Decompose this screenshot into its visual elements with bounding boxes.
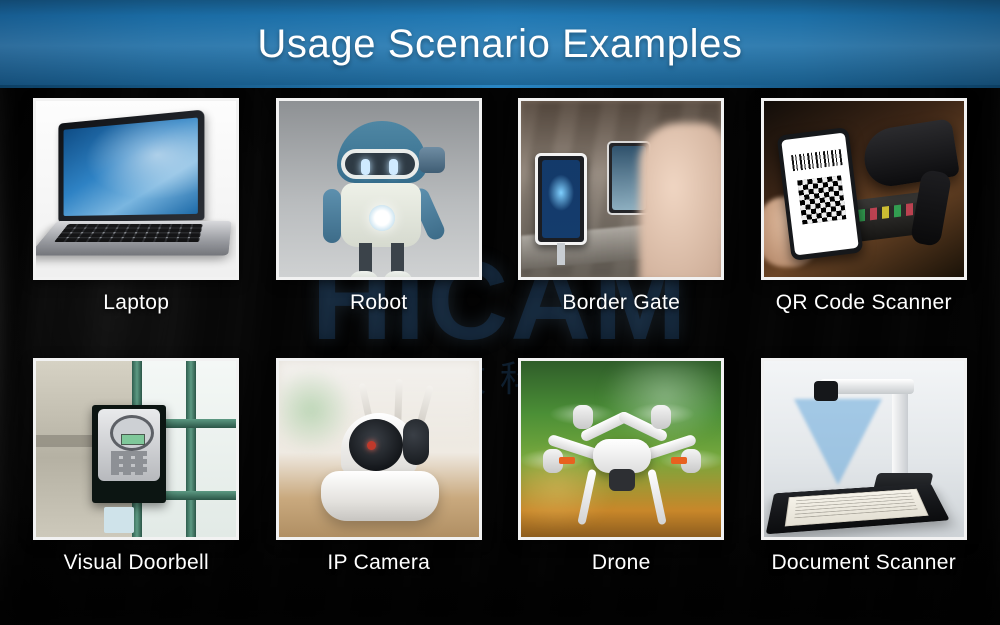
robot-illustration xyxy=(279,101,479,277)
thumbnail-ip-camera[interactable] xyxy=(276,358,482,540)
caption-robot: Robot xyxy=(350,291,408,315)
scenario-cell-visual-doorbell: Visual Doorbell xyxy=(18,358,255,618)
drone-illustration xyxy=(521,361,721,537)
document-text-lines xyxy=(794,492,919,520)
doorbell-speaker-ring xyxy=(110,415,154,451)
scanner-mat xyxy=(765,483,949,534)
scanned-document xyxy=(785,488,929,526)
smartphone-screen xyxy=(781,133,859,256)
thumbnail-laptop[interactable] xyxy=(33,98,239,280)
thumbnail-drone[interactable] xyxy=(518,358,724,540)
scanner-light-beam xyxy=(794,399,882,485)
header-banner: Usage Scenario Examples xyxy=(0,0,1000,88)
smartphone xyxy=(776,127,863,261)
ipcam-side-lens xyxy=(403,419,429,465)
scenario-cell-drone: Drone xyxy=(503,358,740,618)
ip-camera-illustration xyxy=(279,361,479,537)
caption-drone: Drone xyxy=(592,551,651,575)
laptop-illustration xyxy=(36,101,236,277)
page-title: Usage Scenario Examples xyxy=(257,22,742,67)
thumbnail-visual-doorbell[interactable] xyxy=(33,358,239,540)
doorbell-lcd-display xyxy=(121,434,145,445)
visual-doorbell-illustration xyxy=(36,361,236,537)
doorbell-faceplate xyxy=(98,409,160,481)
robot-ear xyxy=(419,147,445,173)
robot-foot-right xyxy=(383,271,413,280)
caption-qr-scanner: QR Code Scanner xyxy=(776,291,952,315)
scenario-cell-document-scanner: Document Scanner xyxy=(746,358,983,618)
document-scanner-illustration xyxy=(764,361,964,537)
scenario-cell-ip-camera: IP Camera xyxy=(261,358,498,618)
robot-visor xyxy=(341,149,419,179)
ipcam-lens xyxy=(349,419,403,471)
scanner-post xyxy=(892,383,908,487)
laptop-keyboard-base xyxy=(33,221,232,256)
drone-marker-2 xyxy=(671,457,687,464)
scenario-grid: Laptop xyxy=(0,88,1000,625)
thumbnail-qr-scanner[interactable] xyxy=(761,98,967,280)
gate-terminal-stem xyxy=(557,243,565,265)
doorbell-keypad xyxy=(111,451,147,475)
qr-code-icon xyxy=(797,175,846,224)
drone-motor-4 xyxy=(651,405,671,429)
robot-eye-left xyxy=(361,159,370,175)
ipcam-ir-indicator xyxy=(367,441,376,450)
doorbell-card-reader xyxy=(104,507,134,533)
scenario-cell-laptop: Laptop xyxy=(18,98,255,358)
border-gate-illustration xyxy=(521,101,721,277)
qr-scanner-illustration xyxy=(764,101,964,277)
scenario-cell-border-gate: Border Gate xyxy=(503,98,740,358)
drone-motor-3 xyxy=(573,405,593,429)
drone-gimbal-camera xyxy=(609,469,635,491)
promo-banner: HiCAM 沟数科技 Usage Scenario Examples Lapto… xyxy=(0,0,1000,625)
window-frame-vertical-2 xyxy=(186,361,196,537)
caption-laptop: Laptop xyxy=(103,291,169,315)
caption-border-gate: Border Gate xyxy=(562,291,680,315)
ipcam-base xyxy=(321,471,439,521)
laptop-keys xyxy=(54,224,203,242)
thumbnail-border-gate[interactable] xyxy=(518,98,724,280)
robot-chest-core xyxy=(369,205,395,231)
scanner-camera-head xyxy=(814,381,838,401)
caption-ip-camera: IP Camera xyxy=(327,551,430,575)
drone-body xyxy=(593,439,651,473)
thumbnail-robot[interactable] xyxy=(276,98,482,280)
drone-marker-1 xyxy=(559,457,575,464)
robot-arm-left xyxy=(323,189,341,243)
robot-foot-left xyxy=(349,271,379,280)
thumbnail-document-scanner[interactable] xyxy=(761,358,967,540)
scenario-cell-robot: Robot xyxy=(261,98,498,358)
gate-person xyxy=(639,123,724,280)
caption-document-scanner: Document Scanner xyxy=(771,551,956,575)
caption-visual-doorbell: Visual Doorbell xyxy=(64,551,209,575)
laptop-screen-icon xyxy=(59,109,205,221)
barcode-icon xyxy=(791,149,843,171)
gate-terminal-front xyxy=(535,153,587,245)
robot-eye-right xyxy=(389,159,398,175)
scenario-cell-qr-scanner: QR Code Scanner xyxy=(746,98,983,358)
